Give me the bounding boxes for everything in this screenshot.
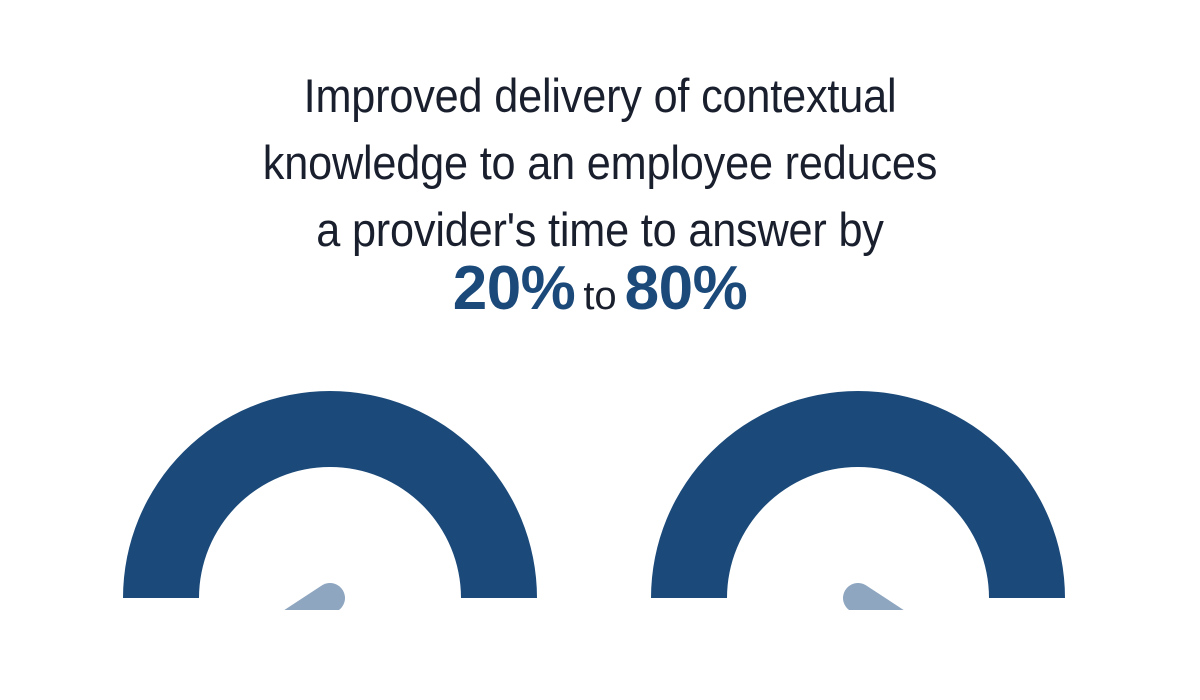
stat-range: 20%to80% [0, 258, 1200, 320]
gauge-20-percent-graphic [115, 370, 545, 610]
gauge-80-percent [643, 370, 1073, 610]
gauge-20-percent [115, 370, 545, 610]
gauge-arc-left [123, 391, 537, 598]
headline: Improved delivery of contextual knowledg… [0, 62, 1200, 263]
stat-low-value: 20% [453, 254, 576, 323]
stat-conjunction: to [575, 274, 624, 318]
gauge-80-percent-graphic [643, 370, 1073, 610]
infographic-canvas: Improved delivery of contextual knowledg… [0, 0, 1200, 700]
headline-line-2: knowledge to an employee reduces [48, 129, 1152, 196]
headline-line-3: a provider's time to answer by [48, 196, 1152, 263]
gauge-row [0, 370, 1200, 620]
headline-line-1: Improved delivery of contextual [48, 62, 1152, 129]
gauge-arc-right [651, 391, 1065, 598]
stat-high-value: 80% [625, 254, 748, 323]
